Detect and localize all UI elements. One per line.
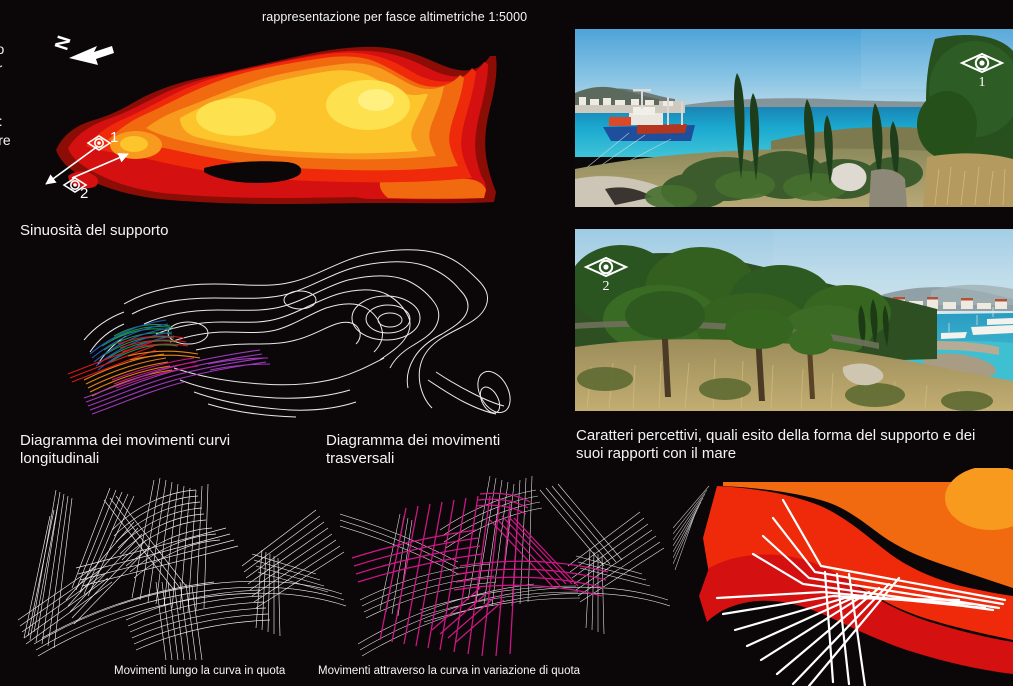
- side-note-bottom-line1-text: a:: [0, 113, 3, 129]
- section-title-trasversali: Diagramma dei movimenti trasversali: [326, 432, 500, 469]
- photo-1-viewpoint-label: 1: [959, 76, 1005, 90]
- photo-2-viewpoint-marker[interactable]: 2: [583, 255, 629, 294]
- sightline-2: [72, 154, 128, 178]
- side-note-bottom-line2: erare: [0, 131, 11, 150]
- caption-movimenti-lungo: Movimenti lungo la curva in quota: [114, 664, 285, 678]
- eye-icon: [959, 51, 1005, 75]
- section-title-caratteri-percettivi: Caratteri percettivi, quali esito della …: [576, 427, 975, 464]
- photo-2-viewpoint-label: 2: [583, 280, 629, 294]
- section-title-sinuosita: Sinuosità del supporto: [20, 222, 168, 240]
- photo-1-viewpoint-marker[interactable]: 1: [959, 51, 1005, 90]
- contour-map: [28, 240, 528, 420]
- side-note-bottom-line1: a:: [0, 112, 3, 131]
- flow-bundle-colored: [68, 320, 270, 414]
- photo-1-content: [575, 29, 1013, 207]
- eye-icon: [583, 255, 629, 279]
- ray-fan-grey: [673, 486, 709, 570]
- section-title-longitudinali: Diagramma dei movimenti curvi longitudin…: [20, 432, 230, 469]
- section-title-longitudinali-text: Diagramma dei movimenti curvi longitudin…: [20, 432, 230, 467]
- side-note-bottom-line2-text: erare: [0, 132, 11, 148]
- line-bundle-magenta: [352, 493, 608, 656]
- detail-heatmap-with-rays: [673, 468, 1013, 686]
- line-bundle-white: [340, 476, 670, 656]
- poster-board: rappresentazione per fasce altimetriche …: [0, 0, 1013, 686]
- side-note-top: posto: [0, 40, 4, 59]
- diagram-longitudinal-movements: [16, 470, 346, 665]
- section-title-caratteri-percettivi-text: Caratteri percettivi, quali esito della …: [576, 427, 975, 462]
- band-8-summit: [358, 89, 394, 111]
- photo-panorama-1[interactable]: 1: [575, 29, 1013, 207]
- side-note-top-line2: per: [0, 59, 2, 78]
- photo-panorama-2[interactable]: 2: [575, 229, 1013, 411]
- band-7-core-left: [196, 98, 276, 136]
- sightline-1: [46, 146, 98, 184]
- side-note-top-text: posto: [0, 41, 4, 57]
- caption-movimenti-attraverso: Movimenti attraverso la curva in variazi…: [318, 664, 580, 678]
- section-title-trasversali-text: Diagramma dei movimenti trasversali: [326, 432, 500, 467]
- diagram-transversal-movements: [340, 470, 670, 665]
- line-bundle-white: [18, 478, 346, 660]
- side-note-top-line2-text: per: [0, 60, 2, 76]
- photo-2-content: [575, 229, 1013, 411]
- viewpoint-sightlines: [28, 120, 208, 210]
